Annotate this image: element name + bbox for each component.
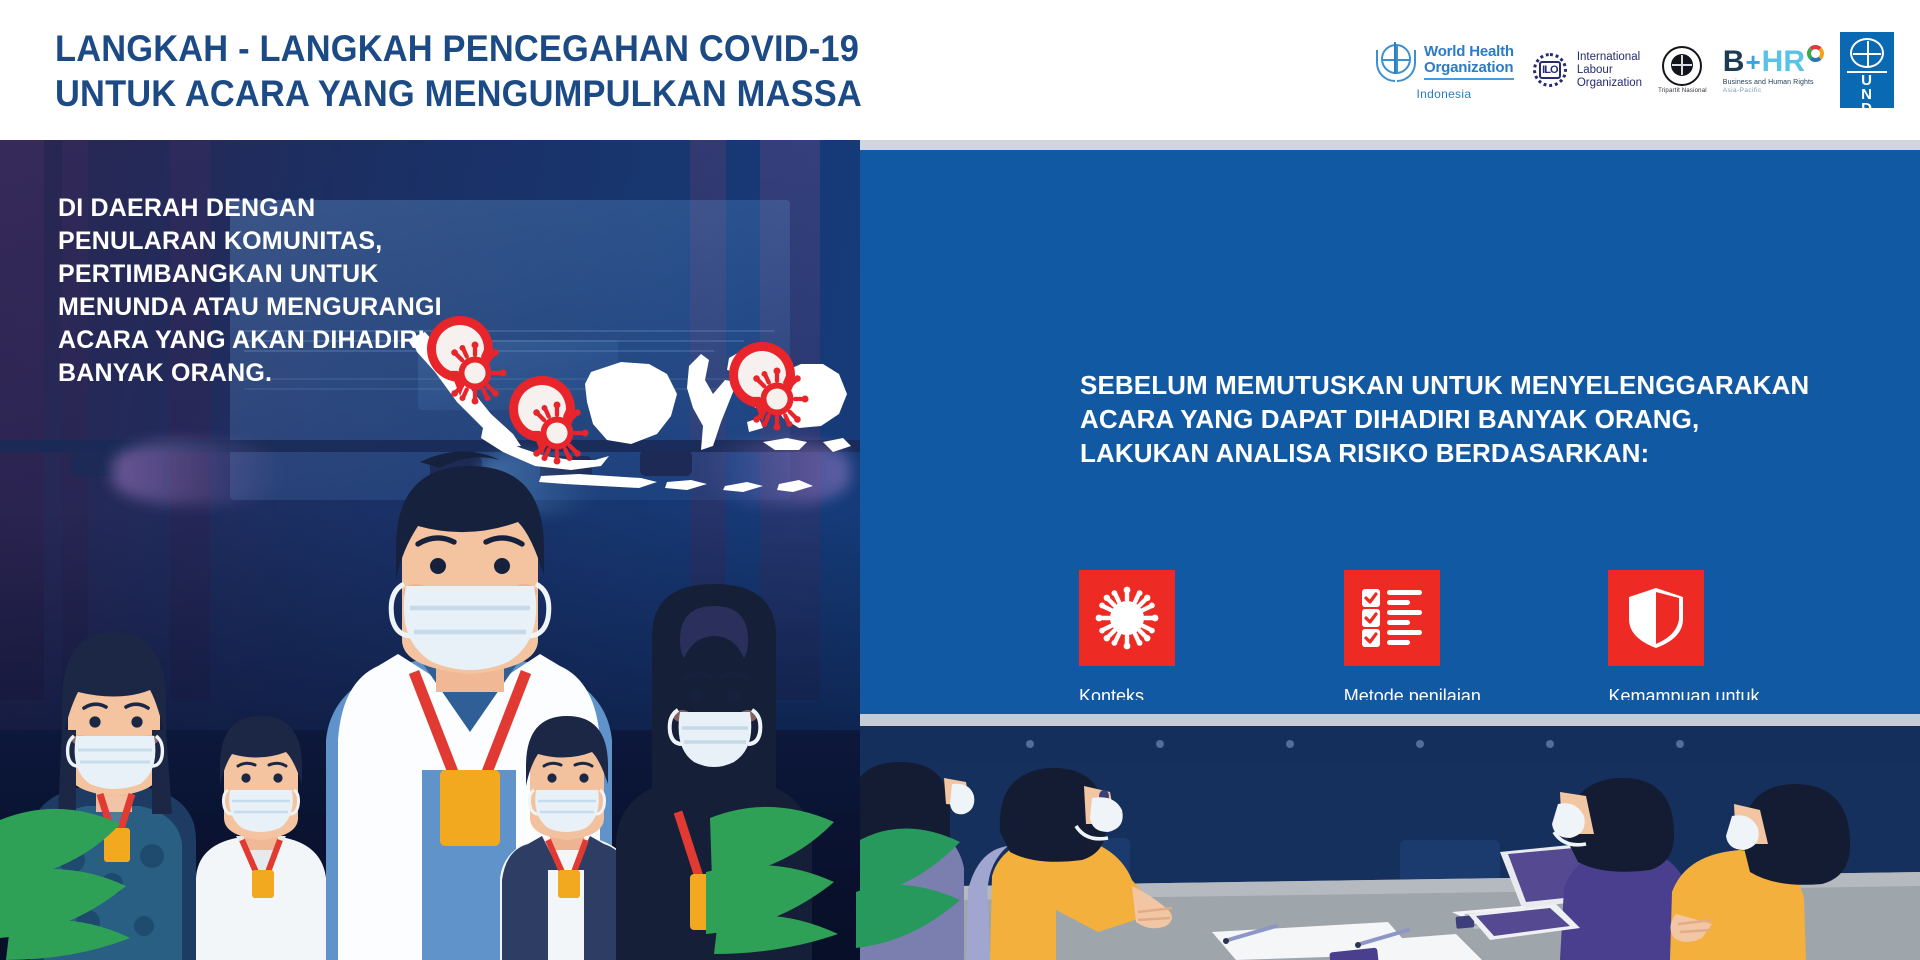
bhr-b: B xyxy=(1723,47,1745,77)
left-headline-line-3: PERTIMBANGKAN UNTUK xyxy=(58,258,488,291)
foreground-plants xyxy=(0,700,960,960)
ilo-emblem-icon: ILO xyxy=(1530,50,1570,90)
undp-letter-p: P xyxy=(1861,117,1872,129)
sdg-ring-icon xyxy=(1807,45,1824,62)
left-headline-line-1: DI DAERAH DENGAN xyxy=(58,192,488,225)
national-logo-caption: Tripartit Nasional xyxy=(1658,88,1707,94)
who-logo: World Health Organization Indonesia xyxy=(1374,40,1514,101)
poster-root: LANGKAH - LANGKAH PENCEGAHAN COVID-19 UN… xyxy=(0,0,1920,960)
panel-heading-line-2: ACARA YANG DAPAT DIHADIRI BANYAK ORANG, xyxy=(1080,402,1870,436)
panel-heading-line-1: SEBELUM MEMUTUSKAN UNTUK MENYELENGGARAKA… xyxy=(1080,368,1870,402)
left-headline-line-2: PENULARAN KOMUNITAS, xyxy=(58,225,488,258)
panel-top-edge xyxy=(860,140,1920,150)
bhr-plus: + xyxy=(1744,47,1761,77)
shield-icon xyxy=(1608,570,1704,666)
panel-heading-line-3: LAKUKAN ANALISA RISIKO BERDASARKAN: xyxy=(1080,436,1870,470)
meeting-room-scene xyxy=(860,700,1920,960)
page-title: LANGKAH - LANGKAH PENCEGAHAN COVID-19 UN… xyxy=(55,26,1035,116)
virus-icon xyxy=(1079,570,1175,666)
ilo-logo: ILO International Labour Organization xyxy=(1530,50,1642,90)
checklist-icon xyxy=(1344,570,1440,666)
ilo-line-2: Labour xyxy=(1577,64,1642,77)
plant-right xyxy=(706,807,838,954)
who-rule xyxy=(1424,78,1514,80)
who-country-label: Indonesia xyxy=(1417,87,1472,101)
ilo-line-3: Organization xyxy=(1577,77,1642,90)
bhr-subtitle: Business and Human Rights xyxy=(1723,79,1814,86)
undp-logo: U N D P xyxy=(1840,32,1894,108)
ilo-mark: ILO xyxy=(1539,61,1561,79)
left-headline-line-6: BANYAK ORANG. xyxy=(58,357,488,390)
title-line-2: UNTUK ACARA YANG MENGUMPULKAN MASSA xyxy=(55,71,966,116)
un-emblem-icon xyxy=(1850,38,1884,68)
left-headline-line-4: MENUNDA ATAU MENGURANGI xyxy=(58,291,488,324)
bhr-logo: B + HR Business and Human Rights Asia-Pa… xyxy=(1723,47,1824,94)
ilo-line-1: International xyxy=(1577,51,1642,64)
bhr-hr: HR xyxy=(1762,47,1805,77)
map-pin-east xyxy=(729,342,795,426)
title-line-1: LANGKAH - LANGKAH PENCEGAHAN COVID-19 xyxy=(55,26,966,71)
plant-left xyxy=(0,809,130,960)
who-emblem-icon xyxy=(1374,40,1418,84)
who-line-2: Organization xyxy=(1424,60,1514,76)
poster-header: LANGKAH - LANGKAH PENCEGAHAN COVID-19 UN… xyxy=(0,0,1920,140)
panel-heading: SEBELUM MEMUTUSKAN UNTUK MENYELENGGARAKA… xyxy=(1080,368,1870,470)
national-emblem-icon xyxy=(1662,46,1702,86)
logo-bar: World Health Organization Indonesia ILO … xyxy=(1374,22,1894,118)
poster-body: DI DAERAH DENGAN PENULARAN KOMUNITAS, PE… xyxy=(0,140,1920,960)
left-headline: DI DAERAH DENGAN PENULARAN KOMUNITAS, PE… xyxy=(58,192,488,390)
plant-right-2 xyxy=(856,828,960,948)
tripartite-national-logo: Tripartit Nasional xyxy=(1658,46,1707,94)
bhr-region: Asia-Pacific xyxy=(1723,87,1762,94)
left-headline-line-5: ACARA YANG AKAN DIHADIRI xyxy=(58,324,488,357)
who-line-1: World Health xyxy=(1424,44,1514,60)
